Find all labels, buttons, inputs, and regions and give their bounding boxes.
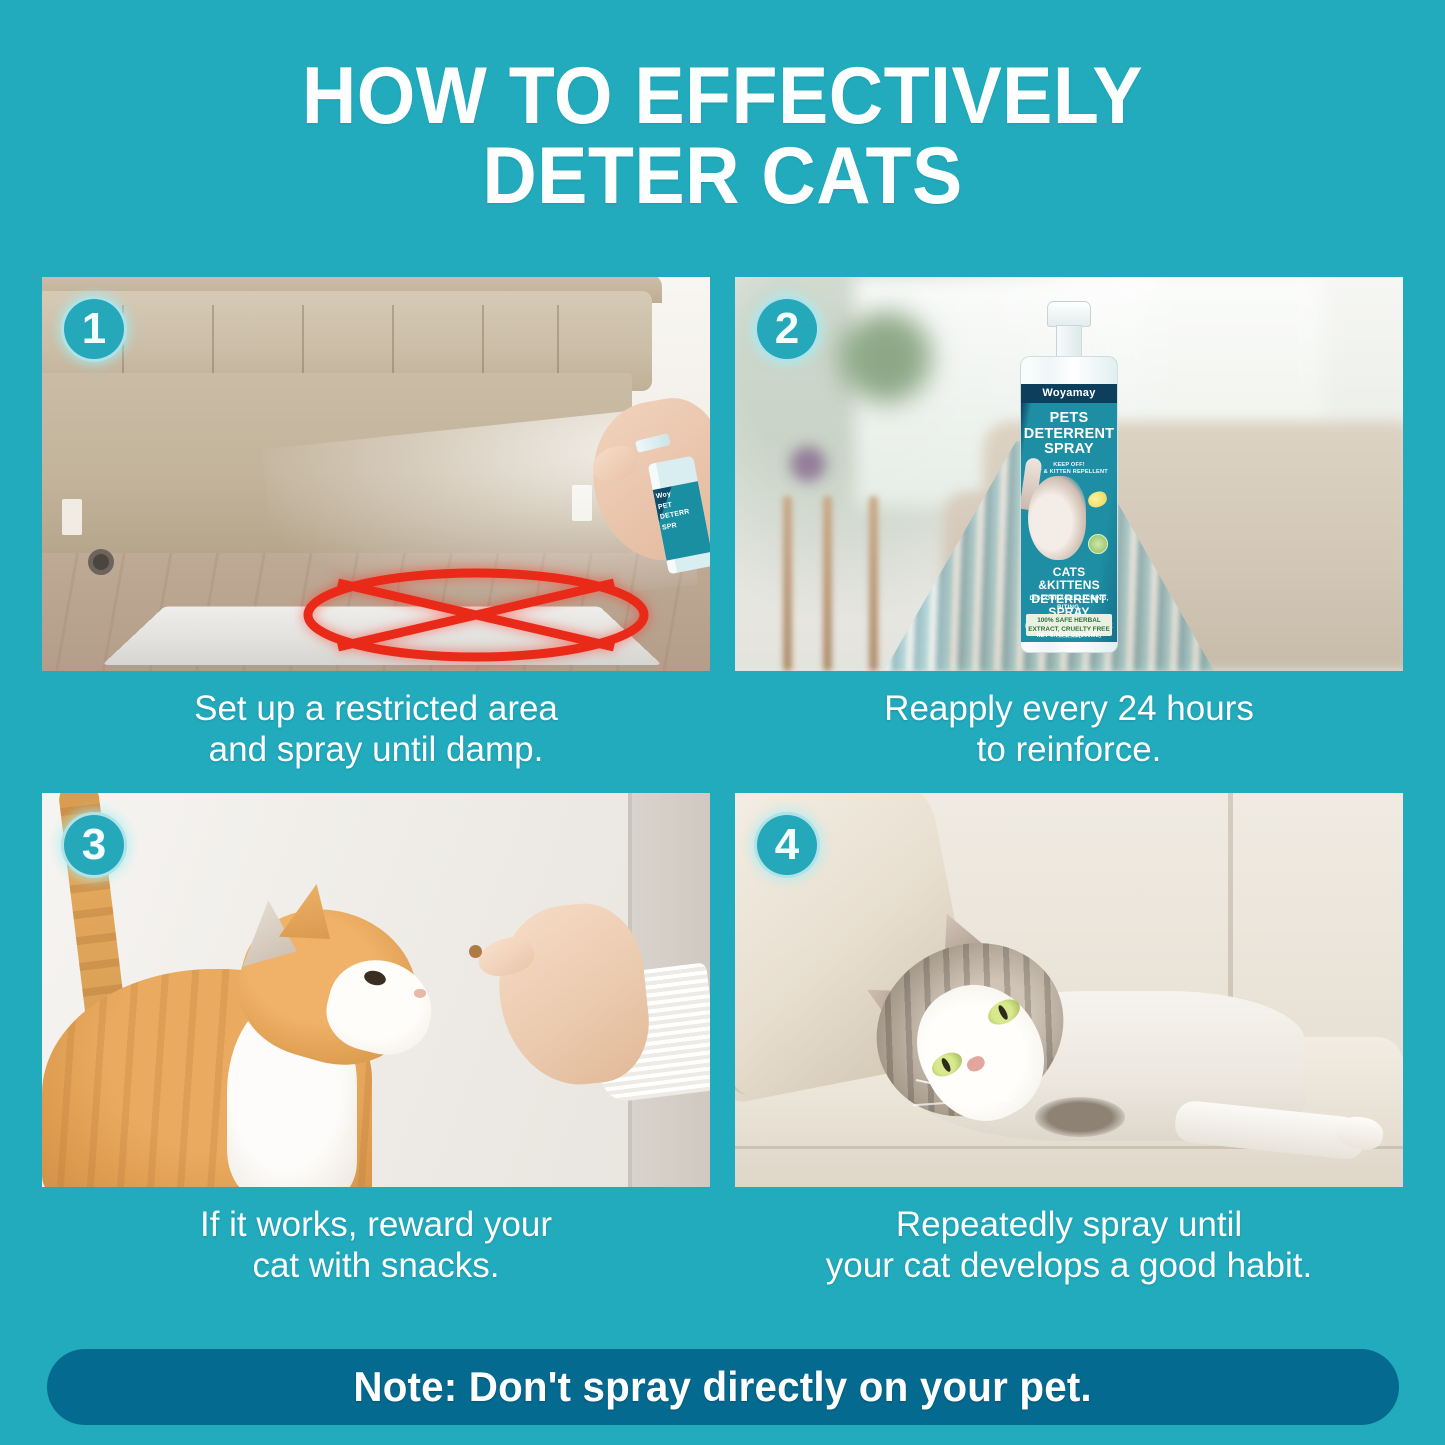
page-title: HOW TO EFFECTIVELY DETER CATS	[0, 0, 1445, 216]
step-1-caption-line-1: Set up a restricted area	[42, 688, 710, 729]
step-4-photo: 4	[735, 793, 1403, 1187]
greenery-blur	[831, 297, 941, 417]
step-badge-1: 1	[61, 296, 127, 362]
step-2-caption-line-2: to reinforce.	[735, 729, 1403, 770]
step-4-caption-line-1: Repeatedly spray until	[735, 1204, 1403, 1245]
steps-grid: Woy PET DETERR SPR 1 Set up a restricted…	[42, 277, 1403, 1286]
note-text: Note: Don't spray directly on your pet.	[354, 1363, 1092, 1411]
step-3-caption-line-2: cat with snacks.	[42, 1245, 710, 1286]
label-green-line-1: 100% SAFE HERBAL	[1027, 616, 1111, 625]
side-table-legs	[783, 491, 913, 671]
step-3-caption-line-1: If it works, reward your	[42, 1204, 710, 1245]
cat-tabby-spot	[1035, 1097, 1125, 1137]
label-cat-art	[1028, 476, 1086, 560]
step-1: Woy PET DETERR SPR 1 Set up a restricted…	[42, 277, 710, 771]
label-title-line-1: PETS	[1021, 411, 1117, 427]
step-1-photo: Woy PET DETERR SPR 1	[42, 277, 710, 671]
step-2: Woyamay PETS DETERRENT SPRAY KEEP OFF! C…	[735, 277, 1403, 771]
step-4-caption-line-2: your cat develops a good habit.	[735, 1245, 1403, 1286]
step-4-caption: Repeatedly spray until your cat develops…	[735, 1204, 1403, 1287]
label-title: PETS DETERRENT SPRAY	[1021, 403, 1117, 458]
sofa-leg	[62, 499, 82, 535]
step-badge-2: 2	[754, 296, 820, 362]
label-body-line-1: DISCOURAGES LICKING, BITING,	[1021, 594, 1117, 613]
bottle-label: Woyamay PETS DETERRENT SPRAY KEEP OFF! C…	[1021, 384, 1117, 642]
step-3-caption: If it works, reward your cat with snacks…	[42, 1204, 710, 1287]
bottle-neck	[1056, 325, 1082, 359]
note-banner: Note: Don't spray directly on your pet.	[47, 1349, 1399, 1425]
step-1-caption-line-2: and spray until damp.	[42, 729, 710, 770]
step-1-caption: Set up a restricted area and spray until…	[42, 688, 710, 771]
step-4: 4 Repeatedly spray until your cat develo…	[735, 793, 1403, 1287]
step-badge-3: 3	[61, 812, 127, 878]
label-lemon-art	[1086, 490, 1108, 510]
title-line-1: HOW TO EFFECTIVELY	[51, 56, 1395, 136]
label-brand: Woyamay	[1021, 384, 1117, 403]
step-badge-4: 4	[754, 812, 820, 878]
bottle-trigger-head	[1047, 301, 1091, 327]
title-line-2: DETER CATS	[51, 136, 1395, 216]
step-2-caption-line-1: Reapply every 24 hours	[735, 688, 1403, 729]
label-safety-seal-icon	[1088, 534, 1108, 554]
spray-bottle: Woyamay PETS DETERRENT SPRAY KEEP OFF! C…	[1020, 301, 1118, 653]
step-2-photo: Woyamay PETS DETERRENT SPRAY KEEP OFF! C…	[735, 277, 1403, 671]
label-net-contents: NET 6.76FL OZ(200ML)	[1021, 633, 1117, 639]
bottle-body: Woyamay PETS DETERRENT SPRAY KEEP OFF! C…	[1020, 356, 1118, 653]
step-3: 3 If it works, reward your cat with snac…	[42, 793, 710, 1287]
label-title-line-2: DETERRENT	[1021, 427, 1117, 443]
step-2-caption: Reapply every 24 hours to reinforce.	[735, 688, 1403, 771]
blurred-vase	[791, 447, 825, 481]
prohibition-marker-icon	[302, 567, 650, 663]
label-heading-line-1: CATS &KITTENS	[1021, 566, 1117, 593]
cat-nose	[414, 989, 426, 998]
label-title-line-3: SPRAY	[1021, 442, 1117, 458]
sofa-caster-wheel	[88, 549, 114, 575]
step-3-photo: 3	[42, 793, 710, 1187]
cat-treat	[469, 945, 482, 958]
